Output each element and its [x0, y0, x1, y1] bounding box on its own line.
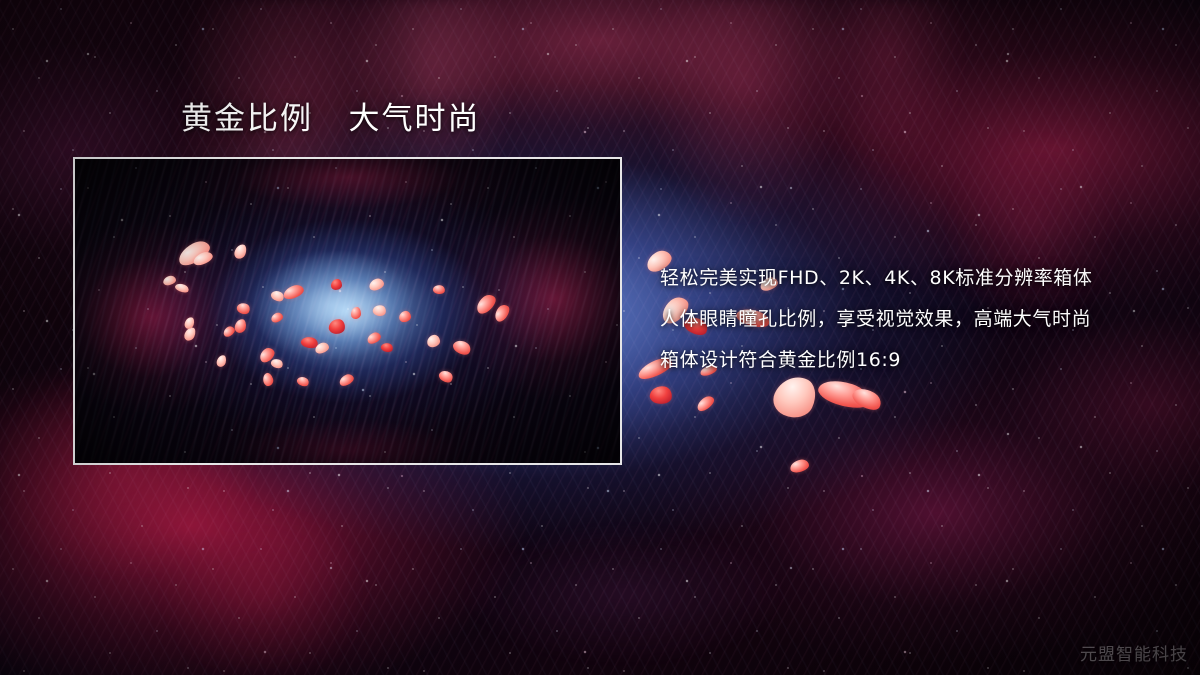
panel-vignette	[75, 159, 620, 463]
body-line-1: 轻松完美实现FHD、2K、4K、8K标准分辨率箱体	[660, 258, 1160, 299]
image-panel-frame	[73, 157, 622, 465]
body-line-2: 人体眼睛瞳孔比例，享受视觉效果，高端大气时尚	[660, 299, 1160, 340]
page-title: 黄金比例 大气时尚	[181, 101, 481, 137]
body-line-3: 箱体设计符合黄金比例16:9	[660, 340, 1160, 381]
body-text-block: 轻松完美实现FHD、2K、4K、8K标准分辨率箱体 人体眼睛瞳孔比例，享受视觉效…	[660, 258, 1160, 381]
presentation-slide: 黄金比例 大气时尚 轻松完美实现FHD、2K、4K、8K标准分辨率箱体 人体眼睛…	[0, 0, 1200, 675]
watermark-label: 元盟智能科技	[1080, 640, 1188, 665]
